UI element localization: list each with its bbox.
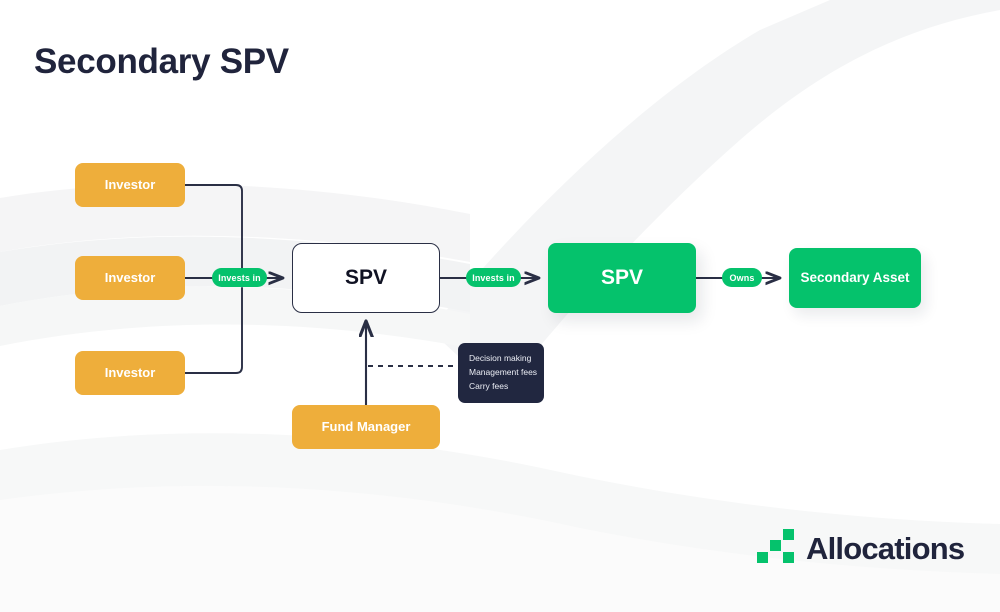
edge-investor3-to-bus (185, 288, 242, 373)
logo-square-3 (783, 529, 794, 540)
node-investor-3[interactable]: Investor (75, 351, 185, 395)
logo-square-4 (783, 552, 794, 563)
node-spv-white-label: SPV (345, 265, 387, 291)
annotation-line-2: Management fees (469, 366, 533, 380)
edge-label-owns[interactable]: Owns (722, 268, 762, 287)
node-fund-manager-label: Fund Manager (322, 419, 411, 435)
logo-square-1 (757, 552, 768, 563)
logo-square-2 (770, 540, 781, 551)
node-spv-green-label: SPV (601, 265, 643, 291)
node-spv-white[interactable]: SPV (292, 243, 440, 313)
edge-label-invests-in-1-text: Invests in (218, 273, 261, 283)
allocations-squares-icon (757, 529, 797, 567)
edge-label-owns-text: Owns (730, 273, 755, 283)
edge-label-invests-in-2[interactable]: Invests in (466, 268, 521, 287)
node-investor-2[interactable]: Investor (75, 256, 185, 300)
diagram-area: Investor Investor Investor SPV SPV Secon… (0, 0, 1000, 612)
edge-label-invests-in-1[interactable]: Invests in (212, 268, 267, 287)
node-spv-green[interactable]: SPV (548, 243, 696, 313)
brand-logo: Allocations (757, 529, 964, 567)
edge-label-invests-in-2-text: Invests in (472, 273, 515, 283)
node-investor-3-label: Investor (105, 365, 156, 381)
node-investor-2-label: Investor (105, 270, 156, 286)
node-investor-1-label: Investor (105, 177, 156, 193)
slide-canvas: Secondary SPV (0, 0, 1000, 612)
node-secondary-asset[interactable]: Secondary Asset (789, 248, 921, 308)
annotation-tooltip: Decision making Management fees Carry fe… (458, 343, 544, 403)
node-investor-1[interactable]: Investor (75, 163, 185, 207)
node-secondary-asset-label: Secondary Asset (800, 270, 909, 287)
annotation-line-1: Decision making (469, 352, 533, 366)
brand-wordmark: Allocations (806, 533, 964, 564)
node-fund-manager[interactable]: Fund Manager (292, 405, 440, 449)
annotation-line-3: Carry fees (469, 380, 533, 394)
edge-investor1-to-bus (185, 185, 242, 268)
